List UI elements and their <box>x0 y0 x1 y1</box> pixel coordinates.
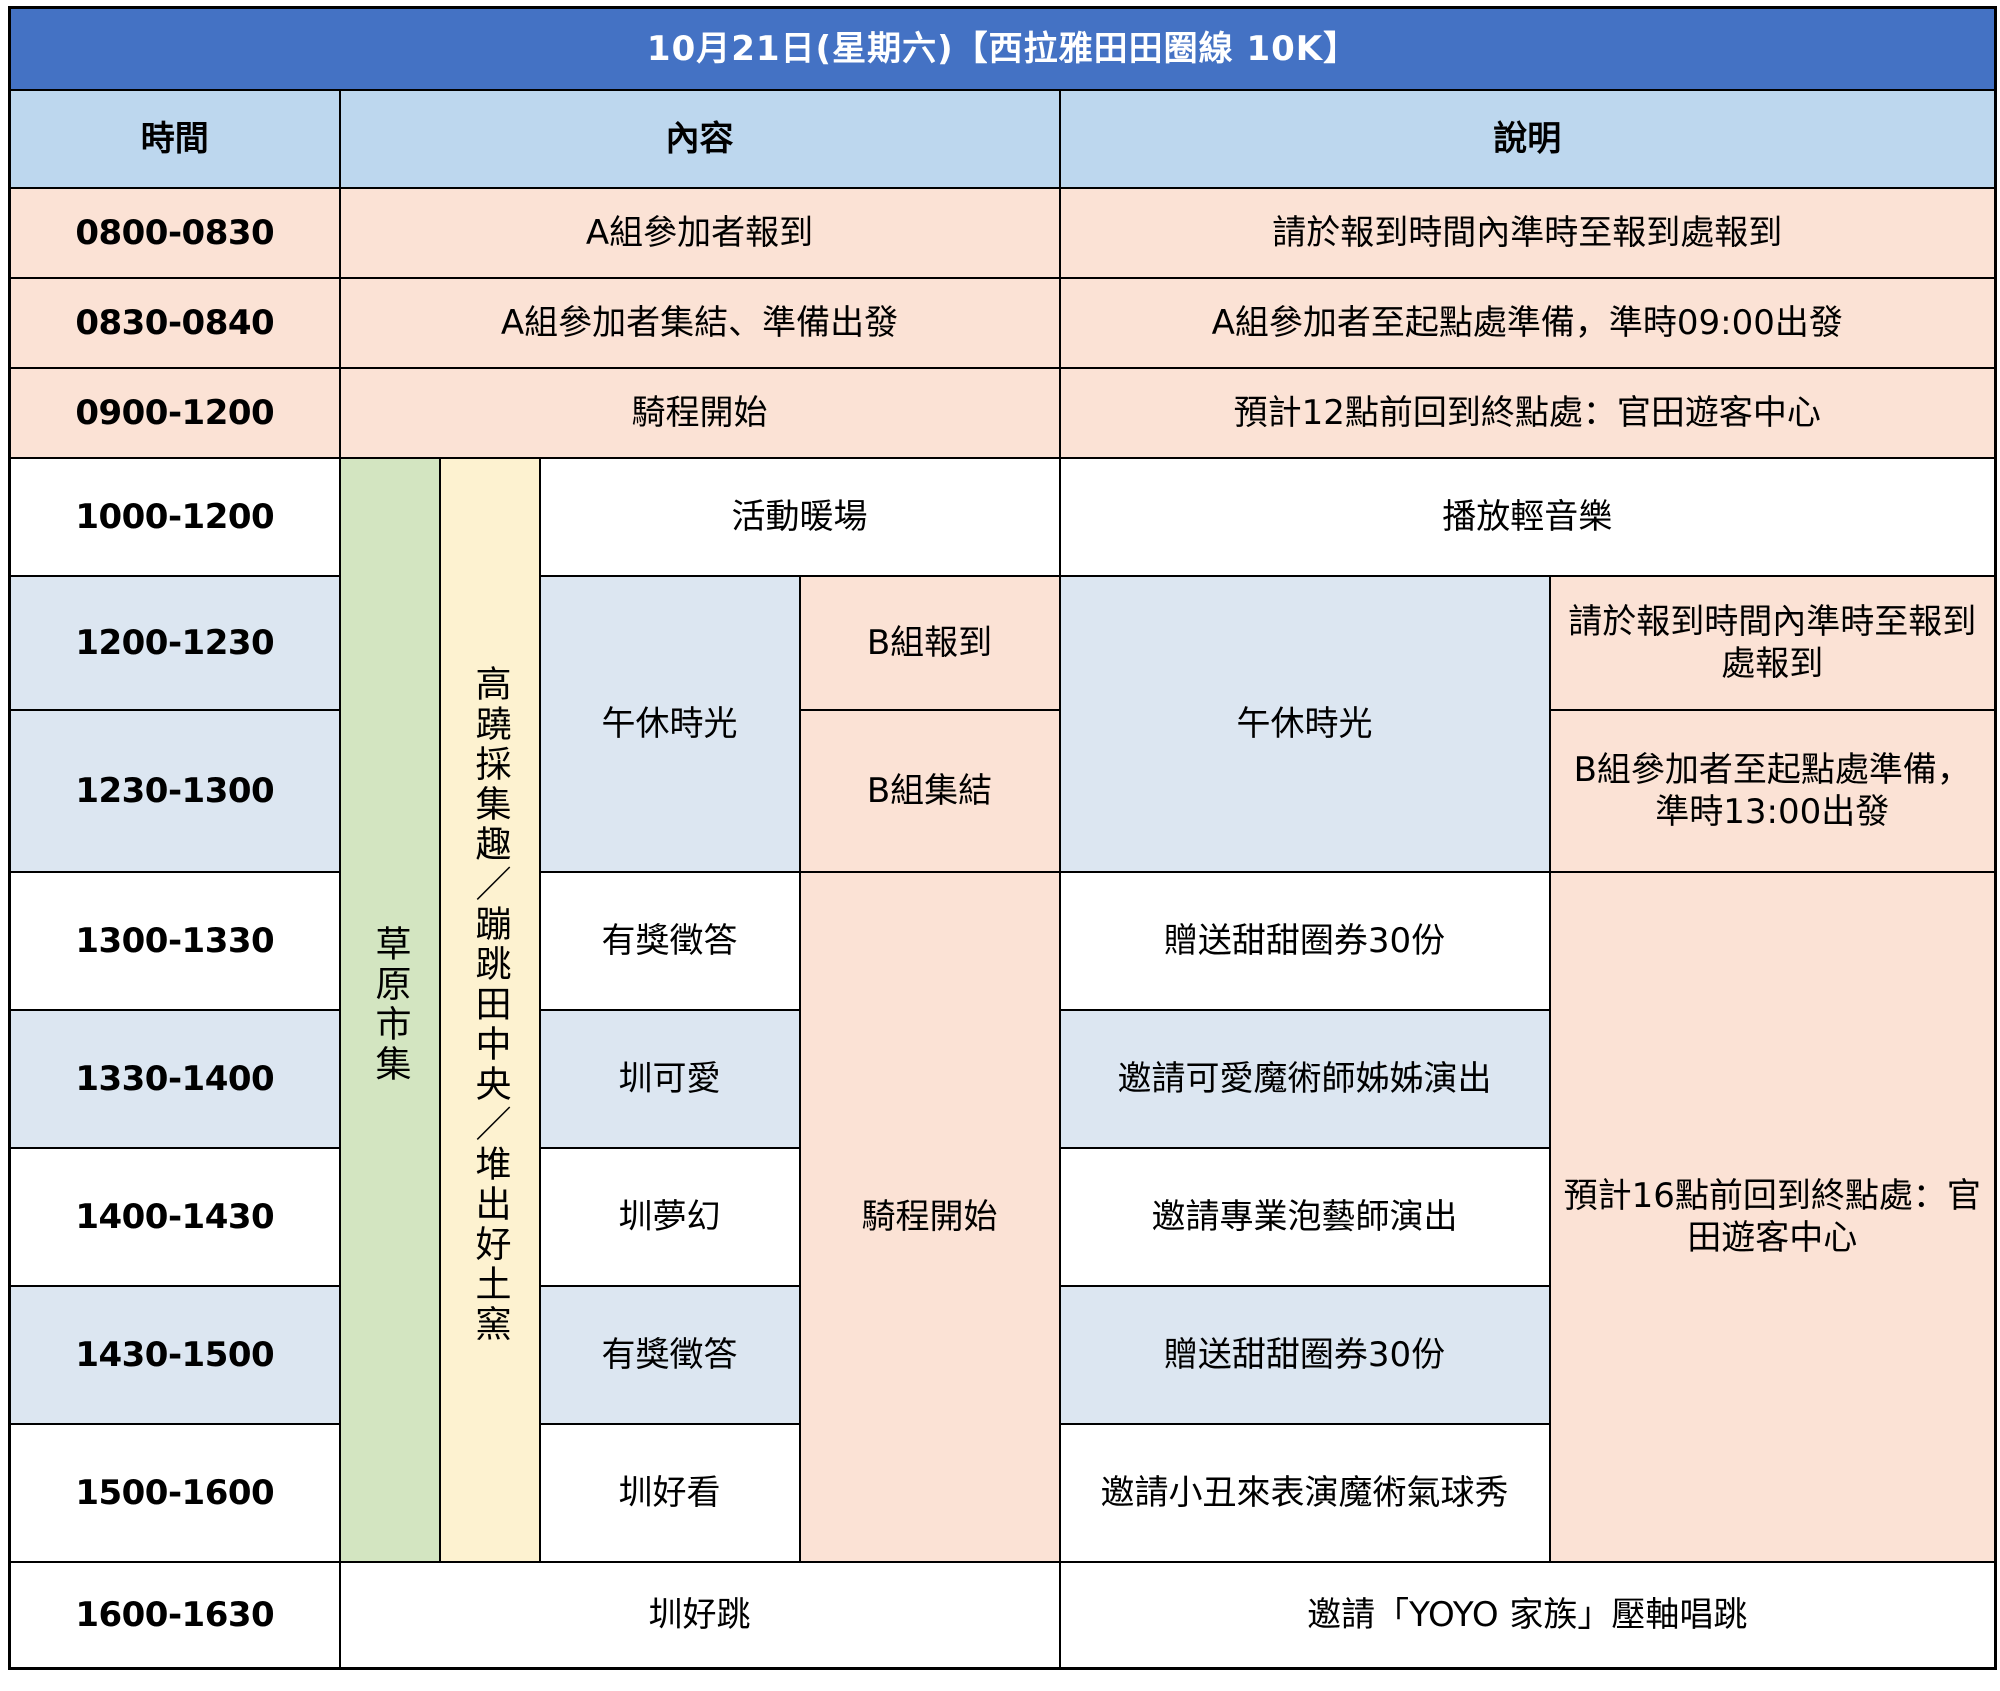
table-row: 1000-1200 草原市集 高蹺採集趣／蹦跳田中央／堆出好土窯 活動暖場 播放… <box>10 458 1996 576</box>
schedule-table: 10月21日(星期六)【西拉雅田田圈線 10K】 時間 內容 說明 0800-0… <box>8 6 1997 1670</box>
row-note: 預計12點前回到終點處：官田遊客中心 <box>1060 368 1996 458</box>
row-content: 有獎徵答 <box>540 1286 800 1424</box>
vertical-label-market: 草原市集 <box>340 458 440 1562</box>
row-time: 1400-1430 <box>10 1148 340 1286</box>
row-time: 0900-1200 <box>10 368 340 458</box>
row-content: 圳夢幻 <box>540 1148 800 1286</box>
row-note: 邀請「YOYO 家族」壓軸唱跳 <box>1060 1562 1996 1669</box>
row-note-right: 預計16點前回到終點處：官田遊客中心 <box>1550 872 1996 1562</box>
row-note-right: B組參加者至起點處準備，準時13:00出發 <box>1550 710 1996 872</box>
row-content-b-assemble: B組集結 <box>800 710 1060 872</box>
vertical-label-market-text: 草原市集 <box>372 925 408 1085</box>
column-header-note: 說明 <box>1060 90 1996 188</box>
schedule-page: 10月21日(星期六)【西拉雅田田圈線 10K】 時間 內容 說明 0800-0… <box>0 0 2000 1691</box>
table-row: 0900-1200 騎程開始 預計12點前回到終點處：官田遊客中心 <box>10 368 1996 458</box>
table-row: 1230-1300 B組集結 B組參加者至起點處準備，準時13:00出發 <box>10 710 1996 872</box>
row-content: 圳好看 <box>540 1424 800 1562</box>
row-content: 有獎徵答 <box>540 872 800 1010</box>
table-row: 1600-1630 圳好跳 邀請「YOYO 家族」壓軸唱跳 <box>10 1562 1996 1669</box>
table-row: 0830-0840 A組參加者集結、準備出發 A組參加者至起點處準備，準時09:… <box>10 278 1996 368</box>
table-row: 0800-0830 A組參加者報到 請於報到時間內準時至報到處報到 <box>10 188 1996 278</box>
row-time: 1430-1500 <box>10 1286 340 1424</box>
row-note: 請於報到時間內準時至報到處報到 <box>1060 188 1996 278</box>
row-note-lunch: 午休時光 <box>1060 576 1550 872</box>
row-content: 活動暖場 <box>540 458 1060 576</box>
row-time: 1200-1230 <box>10 576 340 710</box>
row-note: A組參加者至起點處準備，準時09:00出發 <box>1060 278 1996 368</box>
row-content: 圳好跳 <box>340 1562 1060 1669</box>
header-row: 時間 內容 說明 <box>10 90 1996 188</box>
title-row: 10月21日(星期六)【西拉雅田田圈線 10K】 <box>10 8 1996 91</box>
row-time: 1330-1400 <box>10 1010 340 1148</box>
row-content: A組參加者報到 <box>340 188 1060 278</box>
row-time: 0800-0830 <box>10 188 340 278</box>
row-note: 邀請專業泡藝師演出 <box>1060 1148 1550 1286</box>
column-header-content: 內容 <box>340 90 1060 188</box>
row-time: 0830-0840 <box>10 278 340 368</box>
row-content: 騎程開始 <box>340 368 1060 458</box>
row-note: 贈送甜甜圈券30份 <box>1060 872 1550 1010</box>
vertical-label-activities-text: 高蹺採集趣／蹦跳田中央／堆出好土窯 <box>472 665 508 1345</box>
row-time: 1500-1600 <box>10 1424 340 1562</box>
row-note: 播放輕音樂 <box>1060 458 1996 576</box>
row-content: 圳可愛 <box>540 1010 800 1148</box>
row-content-lunch: 午休時光 <box>540 576 800 872</box>
column-header-time: 時間 <box>10 90 340 188</box>
row-note: 贈送甜甜圈券30份 <box>1060 1286 1550 1424</box>
row-content-ride-start: 騎程開始 <box>800 872 1060 1562</box>
row-content-b-checkin: B組報到 <box>800 576 1060 710</box>
row-time: 1300-1330 <box>10 872 340 1010</box>
page-title: 10月21日(星期六)【西拉雅田田圈線 10K】 <box>10 8 1996 91</box>
row-note: 邀請小丑來表演魔術氣球秀 <box>1060 1424 1550 1562</box>
table-row: 1300-1330 有獎徵答 騎程開始 贈送甜甜圈券30份 預計16點前回到終點… <box>10 872 1996 1010</box>
row-note: 邀請可愛魔術師姊姊演出 <box>1060 1010 1550 1148</box>
row-time: 1600-1630 <box>10 1562 340 1669</box>
table-row: 1200-1230 午休時光 B組報到 午休時光 請於報到時間內準時至報到處報到 <box>10 576 1996 710</box>
row-note-right: 請於報到時間內準時至報到處報到 <box>1550 576 1996 710</box>
row-time: 1230-1300 <box>10 710 340 872</box>
row-time: 1000-1200 <box>10 458 340 576</box>
row-content: A組參加者集結、準備出發 <box>340 278 1060 368</box>
vertical-label-activities: 高蹺採集趣／蹦跳田中央／堆出好土窯 <box>440 458 540 1562</box>
